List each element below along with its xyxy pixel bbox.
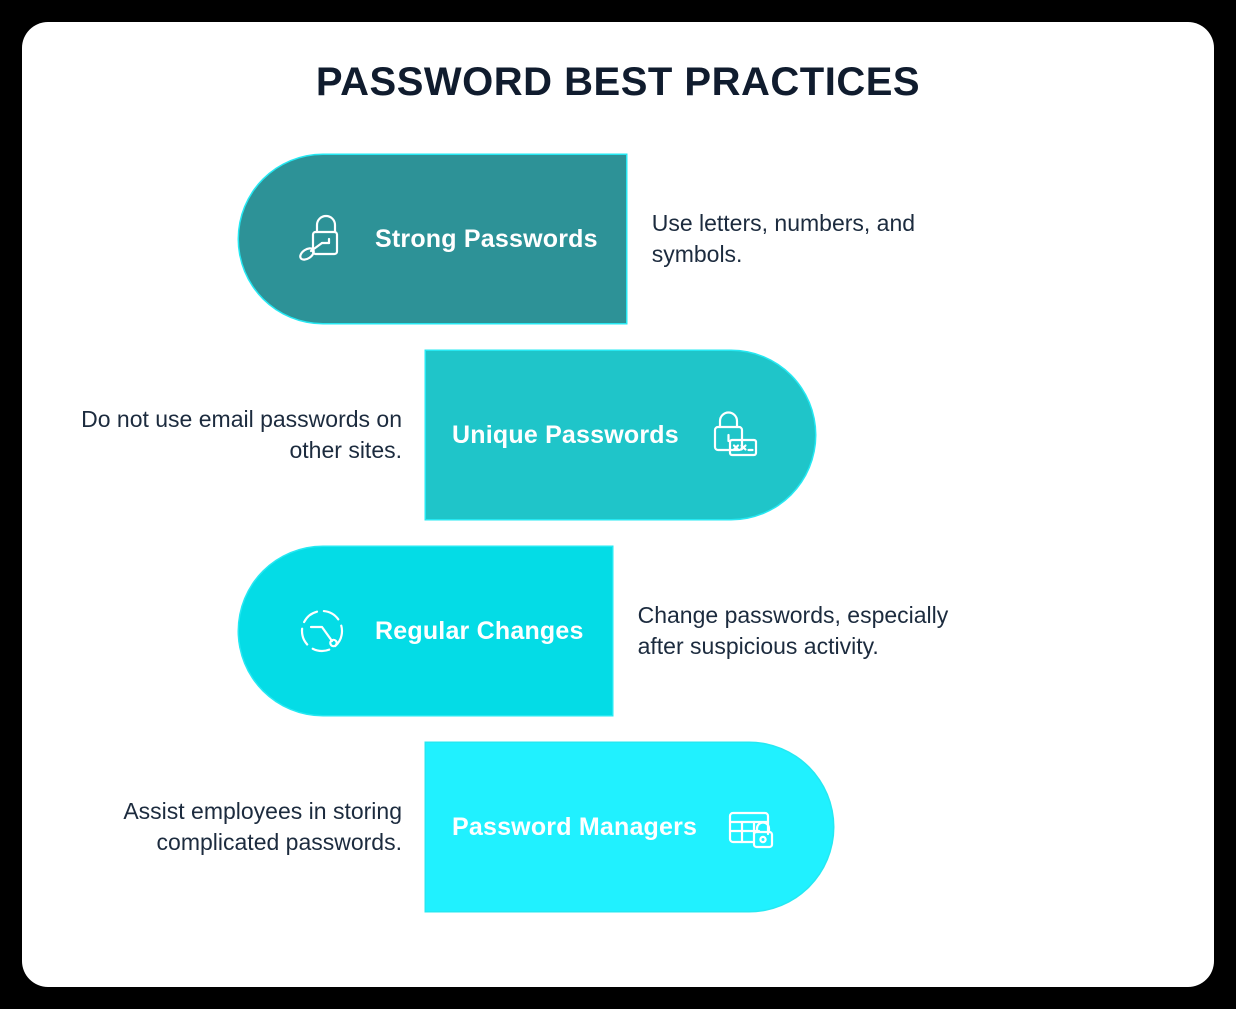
practice-description: Do not use email passwords on other site… (32, 404, 402, 465)
practice-row-regular-changes: Regular Changes Change passwords, especi… (22, 547, 1214, 715)
poster-card: PASSWORD BEST PRACTICES (22, 22, 1214, 987)
padlock-key-icon (291, 208, 353, 270)
practice-row-password-managers: Assist employees in storing complicated … (22, 743, 1214, 911)
padlock-password-field-icon (701, 404, 763, 466)
practice-pill-password-managers[interactable]: Password Managers (426, 743, 833, 911)
practice-label: Regular Changes (375, 617, 584, 646)
practice-label: Unique Passwords (452, 421, 679, 450)
practice-description: Change passwords, especially after suspi… (638, 600, 978, 661)
poster-frame: PASSWORD BEST PRACTICES (0, 0, 1236, 1009)
practice-pill-strong-passwords[interactable]: Strong Passwords (239, 155, 626, 323)
practice-label: Strong Passwords (375, 225, 598, 254)
page-title: PASSWORD BEST PRACTICES (22, 60, 1214, 105)
practice-pill-regular-changes[interactable]: Regular Changes (239, 547, 612, 715)
practice-row-strong-passwords: Strong Passwords Use letters, numbers, a… (22, 155, 1214, 323)
practice-description: Assist employees in storing complicated … (22, 796, 402, 857)
practice-description: Use letters, numbers, and symbols. (652, 208, 1002, 269)
practice-label: Password Managers (452, 813, 697, 842)
practice-row-unique-passwords: Do not use email passwords on other site… (22, 351, 1214, 519)
table-lock-icon (719, 796, 781, 858)
clock-refresh-icon (291, 600, 353, 662)
practice-pill-unique-passwords[interactable]: Unique Passwords (426, 351, 815, 519)
